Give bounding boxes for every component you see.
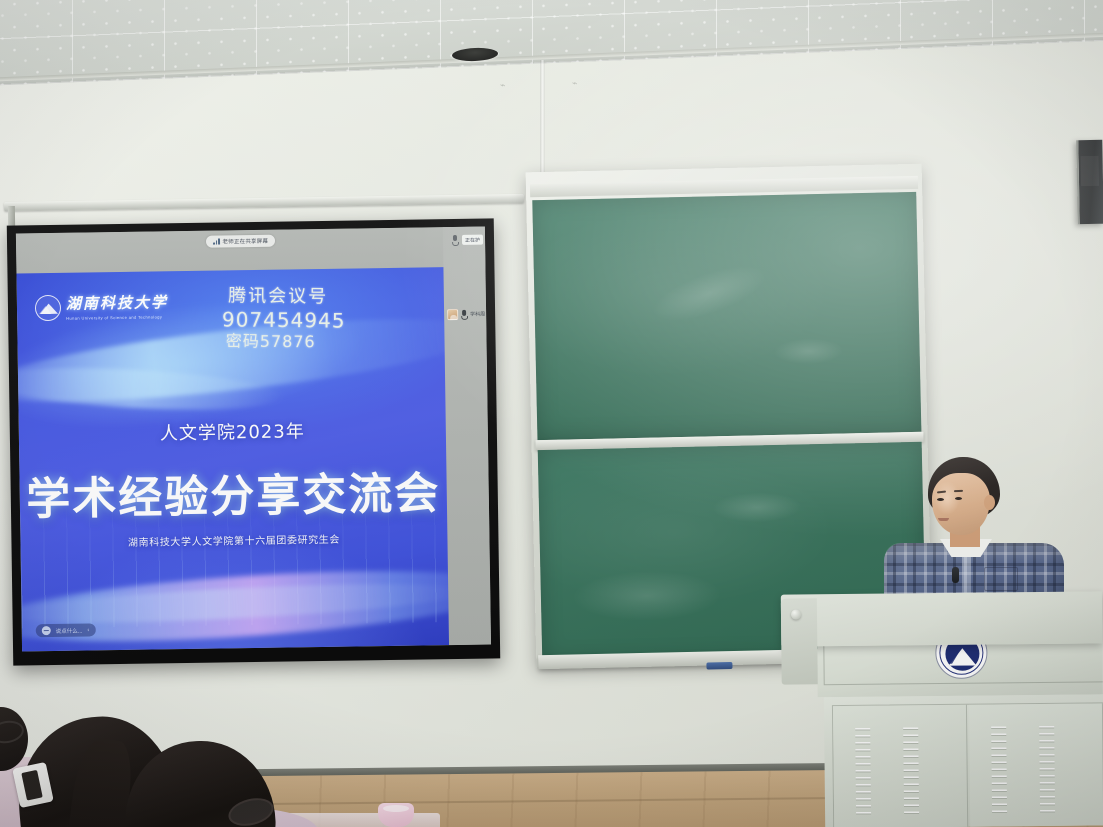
wall-scuff: ⌁	[500, 80, 505, 91]
microphone-icon[interactable]	[452, 235, 458, 245]
lectern-cabinet-doors[interactable]	[832, 702, 1103, 827]
blue-eraser[interactable]	[706, 662, 732, 670]
vent-slots-icon	[855, 728, 871, 818]
chalk-line-1: 腾讯会议号	[228, 285, 346, 308]
slide-logo-en: Hunan University of Science and Technolo…	[66, 314, 168, 321]
presenter-eye	[955, 497, 962, 500]
presenter-shirt-pocket	[984, 567, 1018, 591]
chalkboard	[526, 164, 933, 668]
presenter-eye	[937, 498, 944, 501]
mic-status-label: 正在护	[462, 235, 483, 245]
lectern	[781, 591, 1103, 827]
chalk-line-3: 密码57876	[226, 332, 346, 353]
signal-bars-icon	[213, 238, 220, 244]
audience-front-row	[0, 627, 430, 827]
presenter-ear	[984, 495, 995, 510]
user-avatar-icon	[447, 309, 458, 320]
chalk-line-2: 907454945	[222, 307, 346, 333]
pink-cup[interactable]	[378, 803, 414, 827]
lectern-lock-knob[interactable]	[791, 609, 801, 619]
university-emblem-icon	[35, 295, 61, 321]
slide-university-logo: 湖南科技大学 Hunan University of Science and T…	[35, 293, 168, 321]
vent-slots-icon	[1039, 726, 1055, 816]
lectern-cabinet	[824, 694, 1103, 827]
screen-share-label: 老师正在共享屏幕	[222, 237, 268, 246]
meeting-mic-status[interactable]: 正在护	[452, 235, 483, 245]
participant-list-item[interactable]: 学科周	[447, 309, 485, 321]
lapel-microphone-icon	[952, 567, 959, 583]
microphone-muted-icon[interactable]	[461, 309, 467, 319]
vent-slots-icon	[903, 727, 919, 817]
cabinet-door-left[interactable]	[833, 705, 968, 827]
slide-pretitle: 人文学院2023年	[19, 415, 446, 447]
slide-title: 学术经验分享交流会	[19, 457, 447, 527]
slide-logo-cn: 湖南科技大学	[66, 295, 168, 313]
lectern-side-panel	[781, 598, 818, 684]
cabinet-door-right[interactable]	[969, 703, 1103, 826]
lectern-desktop	[781, 591, 1103, 646]
chalkboard-panel-upper	[532, 192, 921, 440]
chalkboard-writing: 腾讯会议号 907454945 密码57876	[228, 285, 346, 352]
vent-slots-icon	[991, 726, 1007, 816]
meeting-sidebar: 正在护 学科周	[443, 227, 491, 646]
presenter-mouth	[938, 518, 949, 521]
lecture-hall-photo: ⌁ ⌁ 老师正在共享屏幕 正在护	[0, 0, 1103, 827]
meeting-top-bar: 老师正在共享屏幕	[16, 227, 486, 274]
wall-scuff: ⌁	[572, 78, 577, 89]
participant-name: 学科周	[470, 311, 485, 318]
screen-share-banner: 老师正在共享屏幕	[206, 235, 275, 248]
wall-speaker-icon	[1076, 140, 1103, 224]
